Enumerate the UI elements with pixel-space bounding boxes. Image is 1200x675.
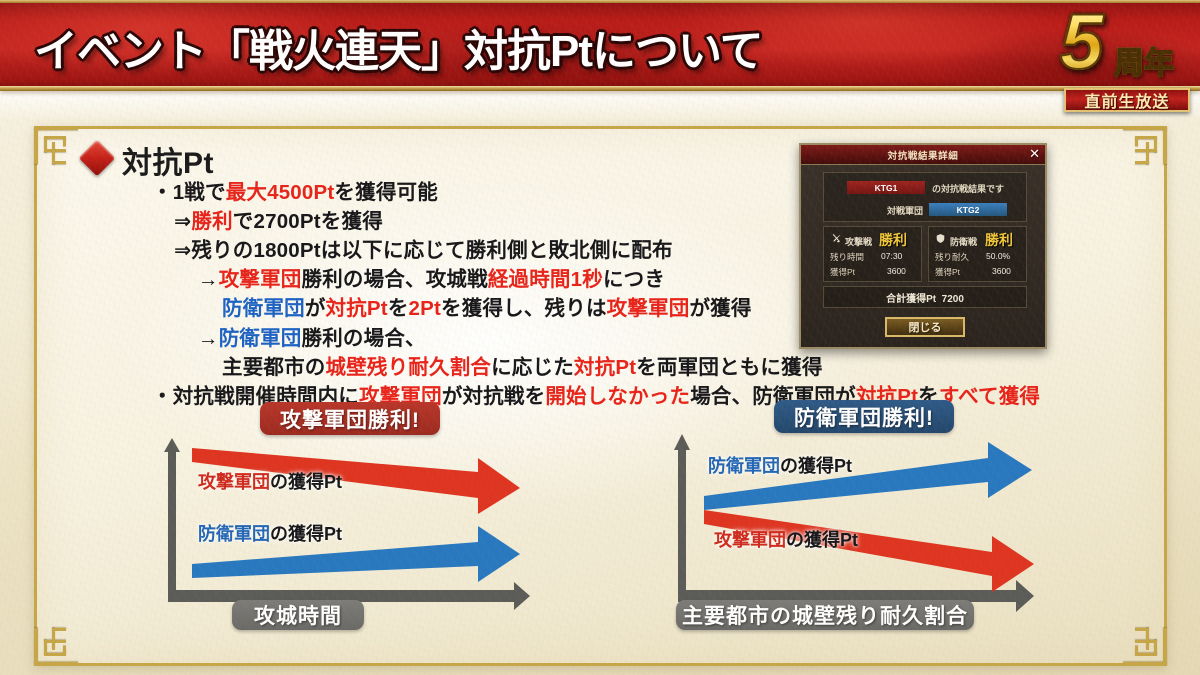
live-badge-label: 直前生放送 — [1084, 88, 1169, 112]
close-x-icon[interactable]: ✕ — [1029, 147, 1040, 160]
body-text-run: 最大4500Pt — [226, 181, 335, 204]
body-text-run: → — [198, 327, 219, 350]
sword-icon — [831, 233, 842, 244]
defense-row1-label: 残り耐久 — [935, 251, 969, 263]
body-text-run: を — [388, 297, 409, 320]
close-button[interactable]: 閉じる — [885, 317, 965, 337]
frame-corner-ornament-bl — [34, 624, 82, 666]
total-value: 7200 — [942, 294, 964, 305]
body-text-run: 対抗Pt — [326, 297, 388, 320]
page-title: イベント「戦火連天」対抗Ptについて — [34, 15, 763, 79]
opponent-label: 対戦軍団 — [887, 204, 923, 217]
body-line: →防衛軍団勝利の場合、 — [152, 324, 892, 353]
anniversary-logo: 5 周年 直前生放送 — [1054, 2, 1194, 114]
chart-left-xlabel-pill: 攻城時間 — [232, 600, 364, 630]
section-heading: 対抗Pt — [122, 138, 214, 182]
banner-gold-edge — [0, 86, 1200, 91]
body-text-run: が獲得 — [689, 297, 751, 320]
body-text-run: 2Pt — [409, 297, 442, 320]
chart-right-xlabel: 主要都市の城壁残り耐久割合 — [682, 600, 968, 630]
banner-top-edge — [0, 0, 1200, 3]
body-text-run: ・1戦で — [152, 181, 226, 204]
defense-heading: 防衛戦 — [950, 235, 977, 248]
body-line: ⇒勝利で2700Ptを獲得 — [152, 207, 892, 236]
body-text-run: ⇒ — [174, 210, 191, 233]
chart-right-series-2-label: 攻撃軍団の獲得Pt — [714, 526, 858, 552]
shield-icon — [935, 233, 946, 244]
defense-row2-value: 3600 — [992, 266, 1011, 276]
chart-right-series-1-label: 防衛軍団の獲得Pt — [708, 452, 852, 478]
body-text-run: 攻撃軍団 — [607, 297, 690, 320]
attack-row2-value: 3600 — [887, 266, 906, 276]
banner-underglow — [0, 91, 1200, 121]
body-text-run: 防衛軍団 — [219, 327, 302, 350]
result-suffix-label: の対抗戦結果です — [932, 182, 1004, 195]
y-axis-arrow — [674, 434, 690, 594]
own-legion-label: KTG1 — [875, 183, 898, 193]
frame-corner-ornament-tr — [1119, 126, 1167, 168]
body-text-run: に応じた — [491, 356, 574, 379]
body-text-run: 対抗Pt — [574, 356, 636, 379]
body-line: 防衛軍団が対抗Ptを2Ptを獲得し、残りは攻撃軍団が獲得 — [152, 294, 892, 323]
anniversary-suffix: 周年 — [1114, 38, 1174, 82]
body-text-run: につき — [603, 268, 665, 291]
chart-right-graphics — [648, 400, 1068, 634]
own-legion-tag: KTG1 — [847, 181, 925, 194]
body-text-block: ・1戦で最大4500Ptを獲得可能⇒勝利で2700Ptを獲得⇒残りの1800Pt… — [152, 178, 892, 411]
attack-row1-label: 残り時間 — [830, 251, 864, 263]
defense-row2-label: 獲得Pt — [935, 266, 960, 278]
attack-heading: 攻撃戦 — [845, 235, 872, 248]
frame-corner-ornament-tl — [34, 126, 82, 168]
battle-result-dialog: 対抗戦結果詳細 ✕ KTG1 の対抗戦結果です 対戦軍団 KTG2 攻撃戦 勝利… — [799, 143, 1047, 349]
body-text-run: が — [305, 297, 326, 320]
body-text-run: ⇒残りの1800Ptは以下に応じて勝利側と敗北側に配布 — [174, 239, 673, 262]
body-line: ・1戦で最大4500Ptを獲得可能 — [152, 178, 892, 207]
body-text-run: 防衛軍団 — [222, 297, 305, 320]
chart-left-series-1-label: 攻撃軍団の獲得Pt — [198, 468, 342, 494]
dialog-titlebar: 対抗戦結果詳細 — [801, 145, 1045, 165]
frame-corner-ornament-br — [1119, 624, 1167, 666]
attack-row1-value: 07:30 — [881, 251, 902, 261]
defense-row1-value: 50.0% — [986, 251, 1010, 261]
live-badge: 直前生放送 — [1064, 88, 1190, 112]
attack-row2-label: 獲得Pt — [830, 266, 855, 278]
body-text-run: 城壁残り耐久割合 — [326, 356, 492, 379]
close-button-label: 閉じる — [909, 319, 942, 335]
opponent-legion-label: KTG2 — [957, 205, 980, 215]
anniversary-number: 5 — [1060, 4, 1103, 78]
body-text-run: 勝利 — [191, 210, 232, 233]
slide-root: イベント「戦火連天」対抗Ptについて 5 周年 直前生放送 — [0, 0, 1200, 675]
chart-left-graphics — [148, 402, 568, 634]
total-points: 合計獲得Pt 7200 — [823, 290, 1027, 305]
body-line: ⇒残りの1800Ptは以下に応じて勝利側と敗北側に配布 — [152, 236, 892, 265]
chart-right-xlabel-pill: 主要都市の城壁残り耐久割合 — [676, 600, 974, 630]
body-text-run: を両軍団ともに獲得 — [636, 356, 822, 379]
body-text-run: を獲得可能 — [334, 181, 438, 204]
body-text-run: 主要都市の — [222, 356, 326, 379]
body-line: 主要都市の城壁残り耐久割合に応じた対抗Ptを両軍団ともに獲得 — [152, 353, 892, 382]
body-text-run: 勝利の場合、攻城戦 — [302, 268, 488, 291]
total-label: 合計獲得Pt — [886, 294, 936, 305]
body-text-run: 攻撃軍団 — [219, 268, 302, 291]
body-text-run: を獲得し、残りは — [441, 297, 607, 320]
dialog-title: 対抗戦結果詳細 — [801, 148, 1045, 162]
body-text-run: 勝利の場合、 — [302, 327, 426, 350]
chart-left-xlabel: 攻城時間 — [254, 600, 342, 630]
chart-attack-victory: 攻撃軍団勝利! 攻撃軍団の獲得Pt 防衛軍団の獲得Pt 攻城時間 — [148, 402, 568, 634]
body-text-run: → — [198, 268, 219, 291]
defense-result: 勝利 — [985, 230, 1013, 250]
chart-left-series-2-label: 防衛軍団の獲得Pt — [198, 520, 342, 546]
chart-defense-victory: 防衛軍団勝利! 防衛軍団の獲得Pt 攻撃軍団の獲得Pt 主要都市の城壁残り耐久割… — [648, 400, 1068, 634]
y-axis-arrow — [164, 438, 180, 594]
body-line: →攻撃軍団勝利の場合、攻城戦経過時間1秒につき — [152, 265, 892, 294]
attack-result: 勝利 — [879, 230, 907, 250]
opponent-legion-tag: KTG2 — [929, 203, 1007, 216]
body-text-run: で2700Ptを獲得 — [233, 210, 383, 233]
body-text-run: 経過時間1秒 — [488, 268, 603, 291]
